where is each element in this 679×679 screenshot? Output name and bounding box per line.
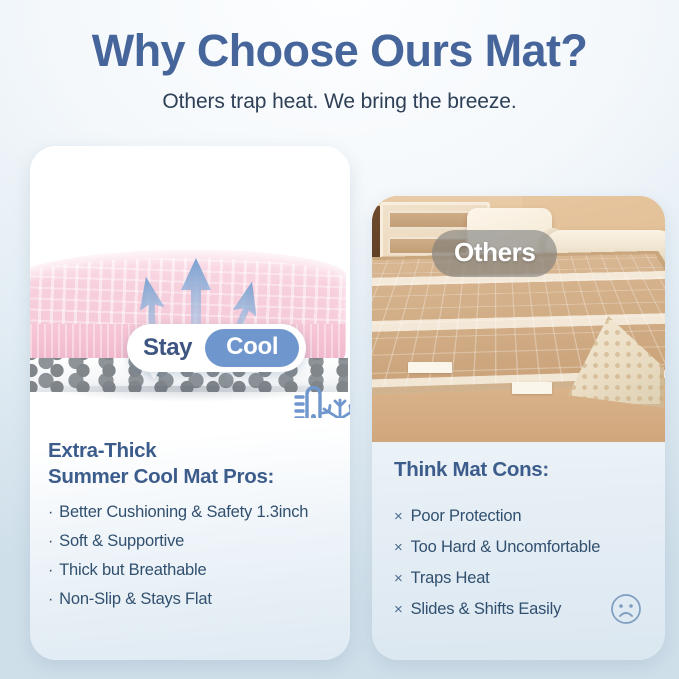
list-item-label: Poor Protection bbox=[411, 507, 522, 526]
list-item-label: Soft & Supportive bbox=[59, 532, 184, 551]
cross-mark-icon: × bbox=[394, 539, 403, 556]
list-item: × Traps Heat bbox=[394, 569, 643, 588]
cross-mark-icon: × bbox=[394, 508, 403, 525]
beige-quilted-mat-on-bed-photo: Others bbox=[372, 196, 665, 442]
bullet-dot: · bbox=[48, 533, 53, 551]
pros-text-block: Extra-Thick Summer Cool Mat Pros: · Bett… bbox=[30, 438, 350, 619]
pros-heading-line1: Extra-Thick bbox=[48, 438, 332, 464]
bullet-dot: · bbox=[48, 591, 53, 609]
bullet-dot: · bbox=[48, 562, 53, 580]
page-title: Why Choose Ours Mat? bbox=[0, 26, 679, 76]
list-item: · Non-Slip & Stays Flat bbox=[48, 590, 332, 609]
stay-label: Stay bbox=[143, 334, 205, 362]
pros-list: · Better Cushioning & Safety 1.3inch · S… bbox=[48, 503, 332, 609]
bullet-dot: · bbox=[48, 504, 53, 522]
cool-label: Cool bbox=[205, 329, 299, 367]
list-item: × Poor Protection bbox=[394, 507, 643, 526]
cross-mark-icon: × bbox=[394, 570, 403, 587]
list-item-label: Too Hard & Uncomfortable bbox=[411, 538, 601, 557]
list-item-label: Better Cushioning & Safety 1.3inch bbox=[59, 503, 308, 522]
list-item-label: Thick but Breathable bbox=[59, 561, 206, 580]
pros-card: Stay Cool Extra-Thick Summer Cool Mat Pr… bbox=[30, 146, 350, 660]
pros-heading-line2: Summer Cool Mat Pros: bbox=[48, 464, 332, 490]
others-badge: Others bbox=[432, 230, 557, 277]
infographic-canvas: Why Choose Ours Mat? Others trap heat. W… bbox=[0, 0, 679, 679]
list-item-label: Non-Slip & Stays Flat bbox=[59, 590, 212, 609]
photo-mat-tag bbox=[512, 382, 552, 394]
list-item: · Thick but Breathable bbox=[48, 561, 332, 580]
list-item: · Soft & Supportive bbox=[48, 532, 332, 551]
pink-cool-mat-illustration: Stay Cool bbox=[30, 146, 350, 418]
stay-cool-badge: Stay Cool bbox=[127, 324, 306, 372]
cons-card: Others Think Mat Cons: × Poor Protection… bbox=[372, 196, 665, 660]
thermometer-snowflake-icon bbox=[282, 386, 350, 418]
list-item: · Better Cushioning & Safety 1.3inch bbox=[48, 503, 332, 522]
sad-face-icon bbox=[609, 592, 643, 631]
mood-icon-row bbox=[372, 592, 665, 631]
pros-heading: Extra-Thick Summer Cool Mat Pros: bbox=[48, 438, 332, 490]
list-item-label: Traps Heat bbox=[411, 569, 490, 588]
header: Why Choose Ours Mat? Others trap heat. W… bbox=[0, 26, 679, 114]
list-item: × Too Hard & Uncomfortable bbox=[394, 538, 643, 557]
photo-mat-tag bbox=[408, 362, 452, 373]
cons-heading: Think Mat Cons: bbox=[394, 458, 643, 482]
page-subtitle: Others trap heat. We bring the breeze. bbox=[0, 90, 679, 114]
